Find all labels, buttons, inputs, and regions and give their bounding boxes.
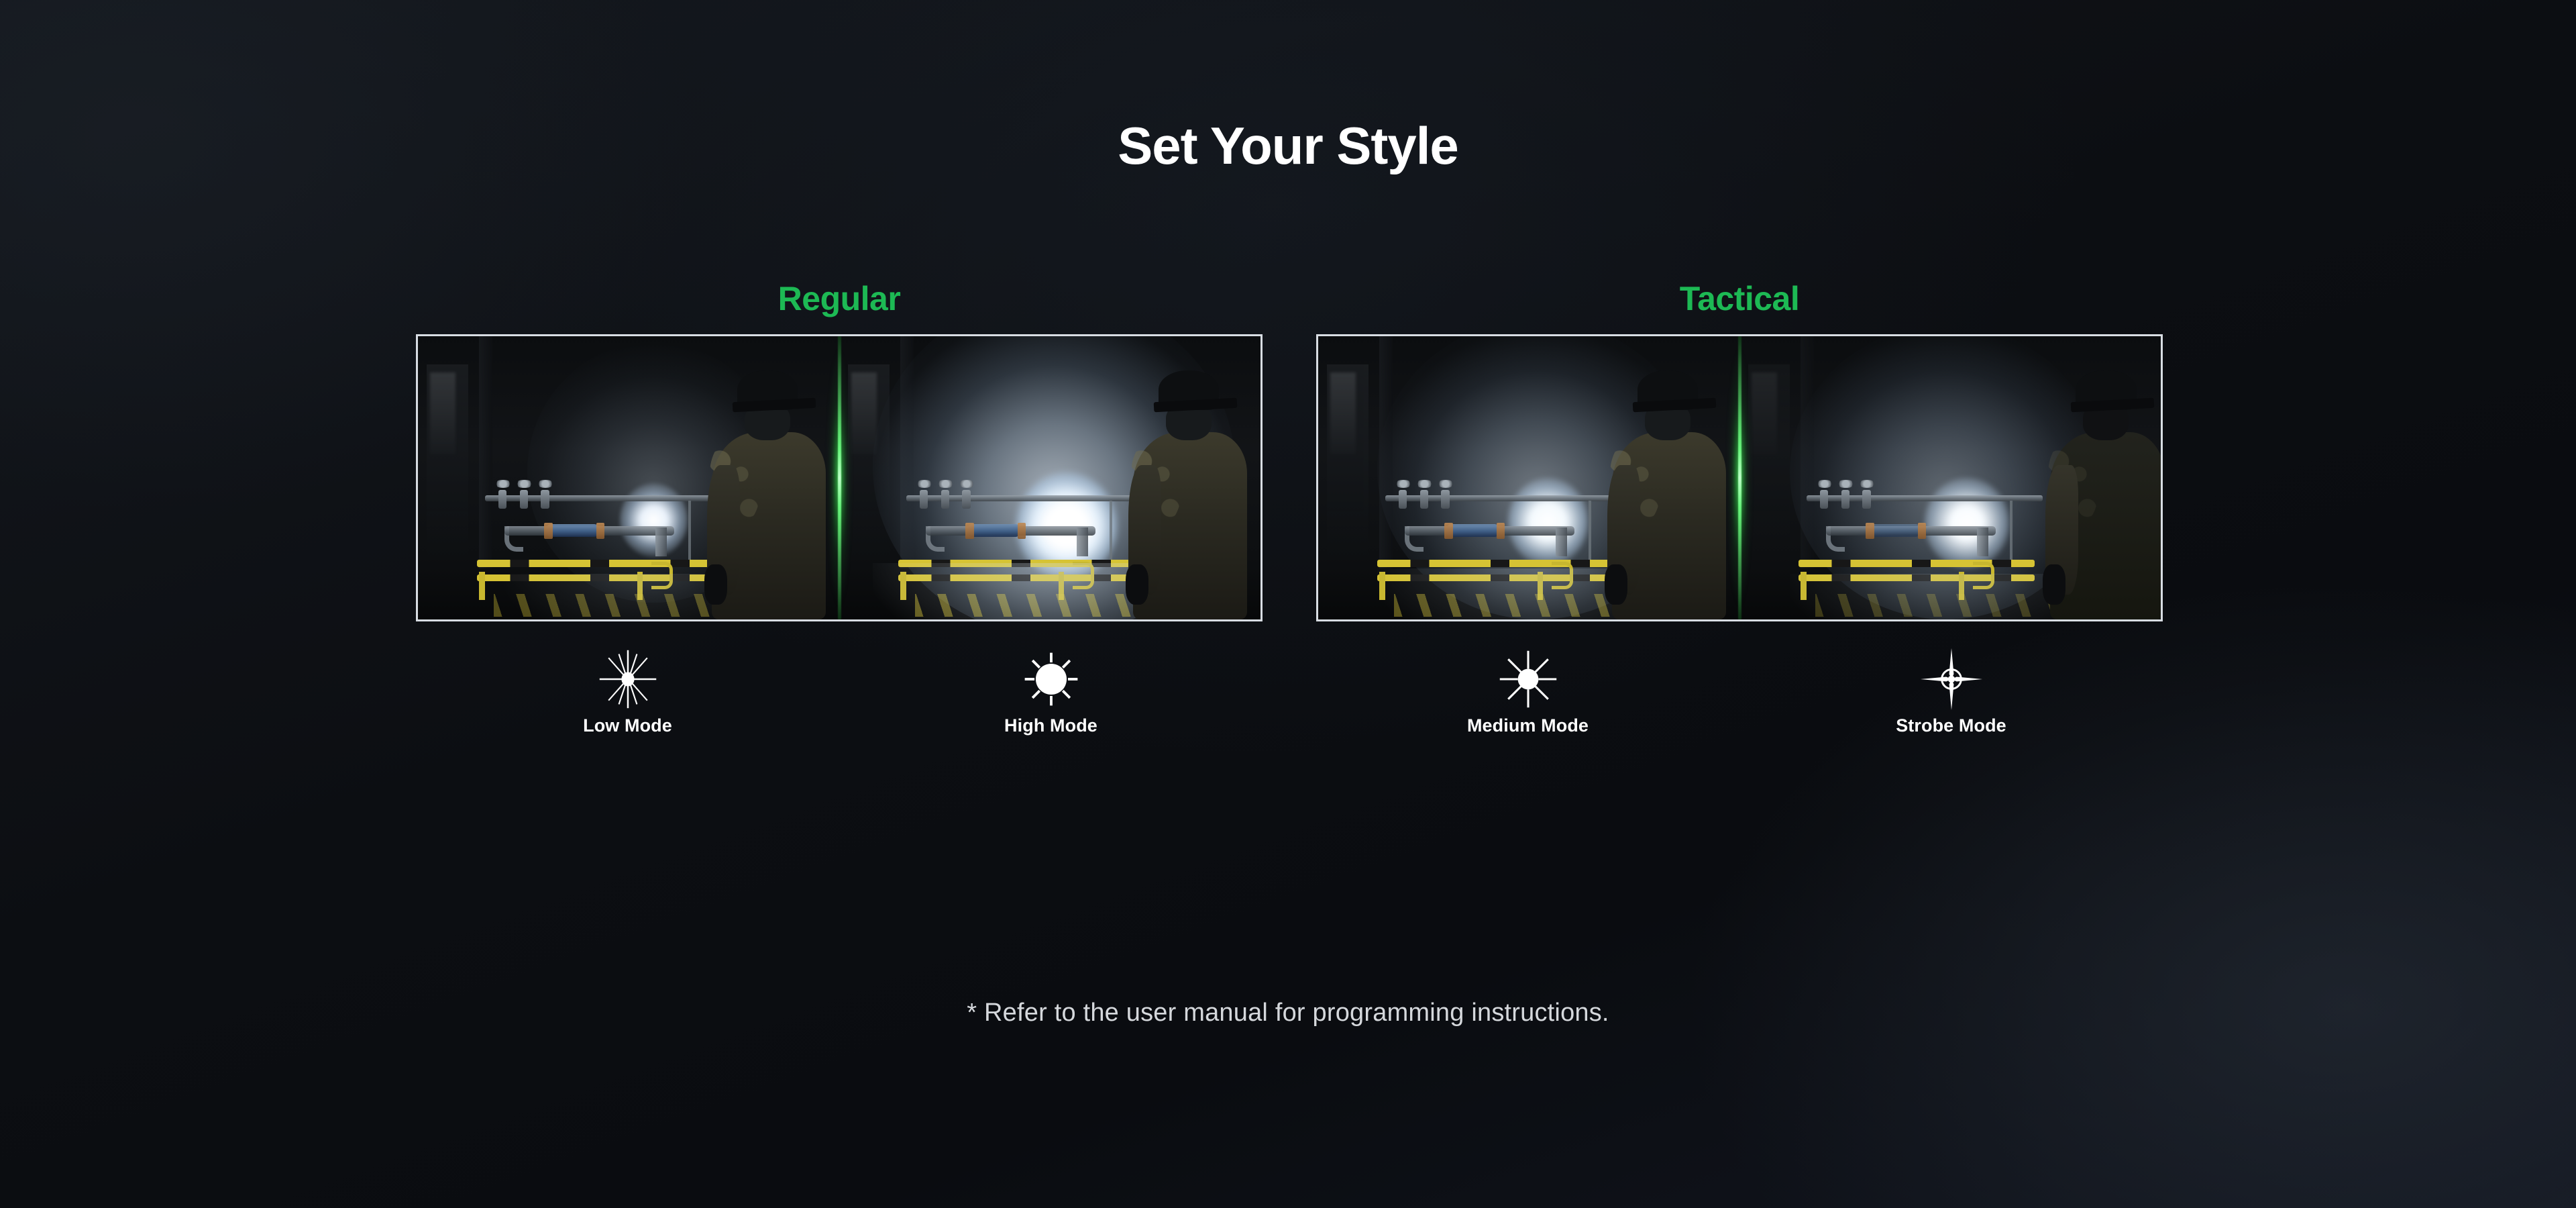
floor-hazard-stripes bbox=[915, 594, 1159, 617]
mode-high[interactable]: High Mode bbox=[839, 647, 1263, 736]
pipe-stand bbox=[688, 501, 691, 567]
operator-silhouette bbox=[2043, 370, 2161, 619]
scene-high-mode bbox=[839, 336, 1260, 619]
page-title: Set Your Style bbox=[0, 119, 2576, 172]
rail-bar-upper bbox=[477, 560, 713, 566]
pipe-flange-right bbox=[596, 523, 604, 539]
safety-guard-rail bbox=[1799, 560, 2035, 591]
style-selector-section: Set Your Style Regular bbox=[0, 0, 2576, 1208]
sun-thin-rays-icon bbox=[596, 647, 660, 711]
operator-glove bbox=[704, 564, 727, 604]
valve-3 bbox=[1859, 480, 1876, 509]
four-point-star-icon bbox=[1919, 647, 1984, 711]
pipe-flange-left bbox=[544, 523, 552, 539]
pipe-stand bbox=[1589, 501, 1591, 567]
pipe-downspout bbox=[1556, 527, 1568, 556]
pipe-downspout bbox=[1977, 527, 1989, 556]
rail-bar-upper bbox=[898, 560, 1134, 566]
rail-segment-end bbox=[651, 562, 673, 589]
scene-strobe-mode bbox=[1739, 336, 2161, 619]
valve-2 bbox=[1416, 480, 1433, 509]
valve-3 bbox=[959, 480, 975, 509]
wall-door bbox=[427, 364, 469, 568]
pipe-flange-right bbox=[1018, 523, 1026, 539]
pipe-assembly bbox=[485, 483, 721, 568]
pipe-assembly bbox=[1807, 483, 2043, 568]
pipe-flange-left bbox=[1866, 523, 1874, 539]
mode-medium[interactable]: Medium Mode bbox=[1316, 647, 1739, 736]
pipe-assembly bbox=[906, 483, 1142, 568]
rail-post-left bbox=[479, 572, 484, 600]
operator-silhouette bbox=[1126, 370, 1252, 619]
rail-post-left bbox=[1801, 572, 1806, 600]
operator-glove bbox=[1605, 564, 1627, 604]
pipe-stand bbox=[2010, 501, 2012, 567]
wall-door bbox=[1327, 364, 1369, 568]
wall-door bbox=[1748, 364, 1790, 568]
pipe-downspout bbox=[1077, 527, 1089, 556]
pipe-blue-section bbox=[968, 524, 1020, 537]
mode-label: Strobe Mode bbox=[1896, 715, 2006, 736]
valve-2 bbox=[1837, 480, 1854, 509]
floor-hazard-stripes bbox=[1815, 594, 2059, 617]
rail-bar-lower bbox=[1799, 574, 2035, 581]
valve-1 bbox=[495, 480, 512, 509]
pipe-flange-right bbox=[1918, 523, 1926, 539]
column-regular: Regular bbox=[416, 282, 1263, 736]
mode-label: Medium Mode bbox=[1467, 715, 1589, 736]
mode-low[interactable]: Low Mode bbox=[416, 647, 839, 736]
mode-label: Low Mode bbox=[583, 715, 672, 736]
rail-bar-upper bbox=[1377, 560, 1613, 566]
operator-glove bbox=[2043, 564, 2065, 604]
rail-bar-lower bbox=[477, 574, 713, 581]
valve-2 bbox=[937, 480, 954, 509]
rail-bar-lower bbox=[898, 574, 1134, 581]
wall-door bbox=[848, 364, 890, 568]
valve-1 bbox=[1817, 480, 1833, 509]
valve-3 bbox=[537, 480, 554, 509]
safety-guard-rail bbox=[477, 560, 713, 591]
comparison-panel-tactical bbox=[1316, 334, 2163, 621]
mode-label: High Mode bbox=[1004, 715, 1097, 736]
pipe-downspout bbox=[655, 527, 667, 556]
pipe-blue-section bbox=[547, 524, 598, 537]
pipe-flange-left bbox=[1444, 523, 1452, 539]
floor-hazard-stripes bbox=[494, 594, 738, 617]
rail-post-left bbox=[1379, 572, 1385, 600]
sun-filled-disc-icon bbox=[1019, 647, 1083, 711]
mode-row-regular: Low Mode High Mode bbox=[416, 647, 1263, 736]
safety-guard-rail bbox=[898, 560, 1134, 591]
rail-segment-end bbox=[1073, 562, 1094, 589]
pipe-stand bbox=[1110, 501, 1112, 567]
operator-silhouette bbox=[704, 370, 830, 619]
operator-silhouette bbox=[1605, 370, 1731, 619]
rail-bar-lower bbox=[1377, 574, 1613, 581]
valve-1 bbox=[916, 480, 933, 509]
valve-3 bbox=[1438, 480, 1454, 509]
column-title-regular: Regular bbox=[416, 282, 1263, 315]
column-title-tactical: Tactical bbox=[1316, 282, 2163, 315]
rail-segment-end bbox=[1973, 562, 1994, 589]
pipe-flange-right bbox=[1497, 523, 1505, 539]
pipe-blue-section bbox=[1447, 524, 1499, 537]
comparison-panel-regular bbox=[416, 334, 1263, 621]
pipe-flange-left bbox=[965, 523, 973, 539]
operator-glove bbox=[1126, 564, 1148, 604]
mode-strobe[interactable]: Strobe Mode bbox=[1739, 647, 2163, 736]
rail-bar-upper bbox=[1799, 560, 2035, 566]
rail-segment-end bbox=[1552, 562, 1573, 589]
scene-low-mode bbox=[418, 336, 839, 619]
valve-2 bbox=[516, 480, 533, 509]
pipe-assembly bbox=[1385, 483, 1621, 568]
sun-long-rays-icon bbox=[1496, 647, 1560, 711]
column-tactical: Tactical bbox=[1316, 282, 2163, 736]
footnote-text: * Refer to the user manual for programmi… bbox=[0, 999, 2576, 1027]
valve-1 bbox=[1395, 480, 1412, 509]
pipe-blue-section bbox=[1868, 524, 1920, 537]
scene-medium-mode bbox=[1318, 336, 1739, 619]
mode-row-tactical: Medium Mode Strobe Mode bbox=[1316, 647, 2163, 736]
floor-hazard-stripes bbox=[1394, 594, 1638, 617]
safety-guard-rail bbox=[1377, 560, 1613, 591]
rail-post-left bbox=[900, 572, 906, 600]
